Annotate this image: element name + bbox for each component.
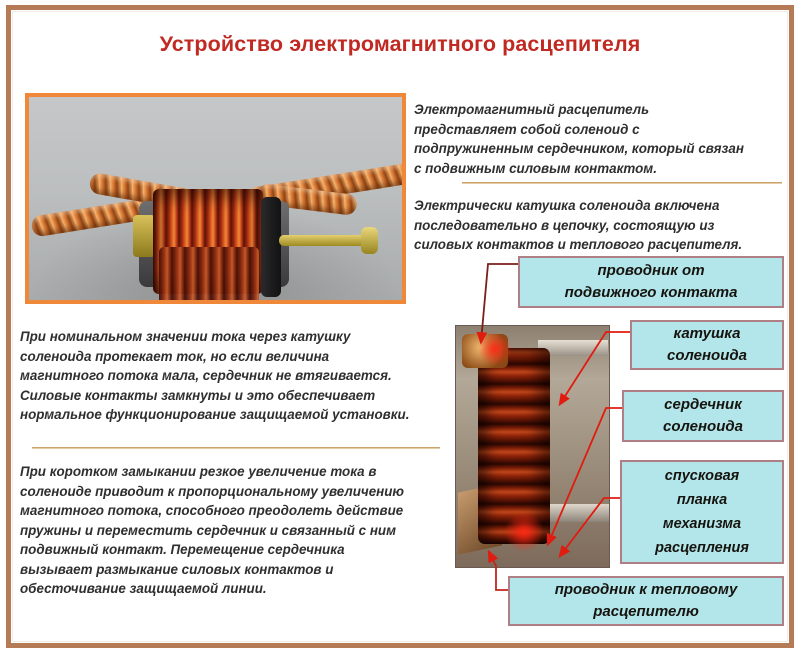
infographic-page: Устройство электромагнитного расцепителя… — [0, 0, 800, 653]
paragraph-short-circuit: При коротком замыкании резкое увеличение… — [20, 462, 444, 599]
solenoid-washer — [261, 197, 281, 297]
callout-conductor-to-thermal-release[interactable]: проводник к тепловому расцепителю — [508, 576, 784, 626]
highlight-spot-bottom — [504, 512, 544, 552]
highlight-spot-top — [478, 332, 512, 366]
paragraph-definition: Электромагнитный расцепитель представляе… — [414, 100, 784, 178]
solenoid-end-cap — [133, 215, 155, 257]
divider-right — [462, 181, 782, 185]
solenoid-standalone-photo — [25, 93, 406, 304]
solenoid-installed-photo — [455, 325, 610, 568]
callout-solenoid-core[interactable]: сердечник соленоида — [622, 390, 784, 442]
callout-solenoid-coil[interactable]: катушка соленоида — [630, 320, 784, 370]
copper-coil-lower-turns — [159, 247, 259, 304]
paragraph-electrical-connection: Электрически катушка соленоида включена … — [414, 196, 784, 255]
solenoid-plunger-head — [361, 227, 378, 254]
divider-left — [32, 446, 440, 450]
paragraph-nominal-current: При номинальном значении тока через кату… — [20, 327, 444, 425]
callout-trip-bar-of-release-mechanism[interactable]: спусковая планка механизма расцепления — [620, 460, 784, 564]
callout-conductor-from-moving-contact[interactable]: проводник от подвижного контакта — [518, 256, 784, 308]
page-title: Устройство электромагнитного расцепителя — [40, 32, 760, 57]
